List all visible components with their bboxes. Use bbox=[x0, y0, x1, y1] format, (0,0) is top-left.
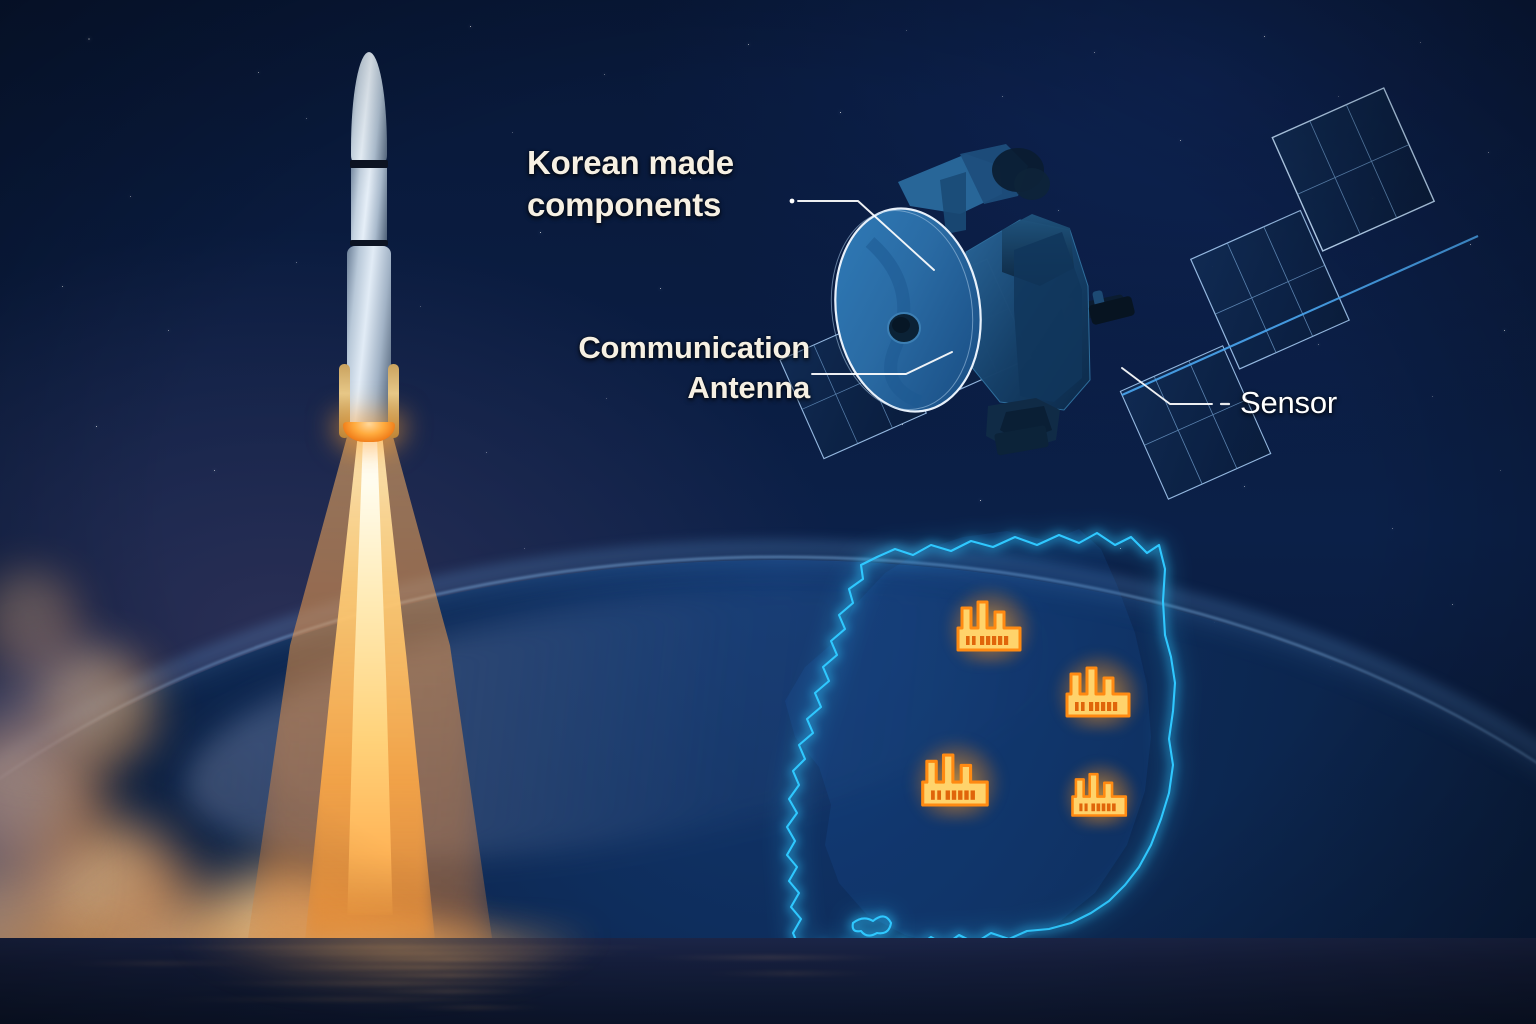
star bbox=[96, 426, 97, 427]
factory-icon bbox=[1069, 767, 1131, 820]
annotation-korean-made-components: Korean made components bbox=[527, 142, 797, 226]
star bbox=[1504, 330, 1505, 331]
rocket-band-upper bbox=[350, 160, 388, 168]
communications-satellite bbox=[770, 110, 1470, 500]
star bbox=[130, 196, 131, 197]
factory-glyph bbox=[954, 594, 1026, 656]
factory-window bbox=[1102, 803, 1106, 811]
factory-window bbox=[966, 636, 970, 645]
star bbox=[1452, 604, 1453, 605]
star bbox=[512, 132, 513, 133]
factory-window bbox=[971, 790, 975, 799]
factory-window bbox=[1107, 702, 1111, 711]
factory-window bbox=[1091, 803, 1095, 811]
launch-vehicle bbox=[337, 52, 401, 454]
rocket-core-stage bbox=[347, 246, 391, 432]
star bbox=[1338, 96, 1339, 97]
factory-window bbox=[980, 636, 984, 645]
factory-window bbox=[1101, 702, 1105, 711]
star bbox=[306, 118, 307, 119]
factory-icon bbox=[919, 747, 994, 811]
star bbox=[1500, 470, 1501, 471]
star bbox=[906, 30, 907, 31]
star bbox=[980, 500, 981, 501]
star bbox=[168, 330, 169, 331]
star bbox=[1264, 36, 1265, 37]
star bbox=[214, 470, 215, 471]
factory-window bbox=[958, 790, 962, 799]
star bbox=[1488, 152, 1489, 153]
star bbox=[62, 286, 63, 287]
factory-window bbox=[1081, 702, 1085, 711]
star bbox=[540, 232, 541, 233]
star bbox=[420, 306, 421, 307]
annotation-communication-antenna: Communication Antenna bbox=[470, 328, 810, 409]
water-reflection bbox=[640, 956, 900, 959]
star bbox=[1392, 528, 1393, 529]
star bbox=[1470, 244, 1471, 245]
water-plume-glow bbox=[180, 926, 600, 996]
rocket-nose-cone bbox=[351, 52, 387, 164]
ocean-surface bbox=[0, 938, 1536, 1024]
star bbox=[1420, 42, 1421, 43]
star bbox=[88, 38, 90, 40]
solar-wing-right bbox=[1051, 88, 1501, 499]
star bbox=[660, 288, 661, 289]
factory-window bbox=[1095, 702, 1099, 711]
water-reflection bbox=[140, 998, 560, 1001]
factory-glyph bbox=[1063, 660, 1135, 722]
factory-window bbox=[1004, 636, 1008, 645]
star bbox=[1094, 52, 1095, 53]
factory-icon bbox=[1063, 660, 1135, 722]
star bbox=[258, 72, 259, 73]
factory-window bbox=[1085, 803, 1088, 811]
factory-window bbox=[1107, 803, 1111, 811]
star bbox=[604, 74, 605, 75]
factory-window bbox=[1113, 702, 1117, 711]
factory-window bbox=[1079, 803, 1082, 811]
water-reflection bbox=[400, 1006, 550, 1009]
factory-window bbox=[937, 790, 941, 799]
factory-window bbox=[931, 790, 935, 799]
factory-glyph bbox=[1069, 767, 1131, 820]
factory-window bbox=[1075, 702, 1079, 711]
rocket-engine-skirt bbox=[343, 422, 395, 442]
rocket-stage-two bbox=[351, 168, 387, 242]
factory-window bbox=[946, 790, 950, 799]
star bbox=[486, 452, 487, 453]
factory-window bbox=[992, 636, 996, 645]
star bbox=[470, 26, 471, 27]
factory-window bbox=[1097, 803, 1101, 811]
factory-window bbox=[972, 636, 976, 645]
water-reflection bbox=[700, 972, 880, 975]
star bbox=[296, 262, 297, 263]
factory-window bbox=[1112, 803, 1116, 811]
satellite-sensor-pod bbox=[986, 398, 1060, 456]
factory-glyph bbox=[919, 747, 994, 811]
factory-window bbox=[964, 790, 968, 799]
smoke-puff bbox=[0, 570, 80, 670]
factory-window bbox=[1089, 702, 1093, 711]
factory-window bbox=[952, 790, 956, 799]
annotation-sensor: Sensor bbox=[1240, 384, 1337, 421]
factory-icon bbox=[954, 594, 1026, 656]
star bbox=[1002, 96, 1003, 97]
star bbox=[524, 548, 525, 549]
infographic-scene: Korean made components Communication Ant… bbox=[0, 0, 1536, 1024]
factory-window bbox=[998, 636, 1002, 645]
star bbox=[748, 44, 749, 45]
factory-window bbox=[986, 636, 990, 645]
